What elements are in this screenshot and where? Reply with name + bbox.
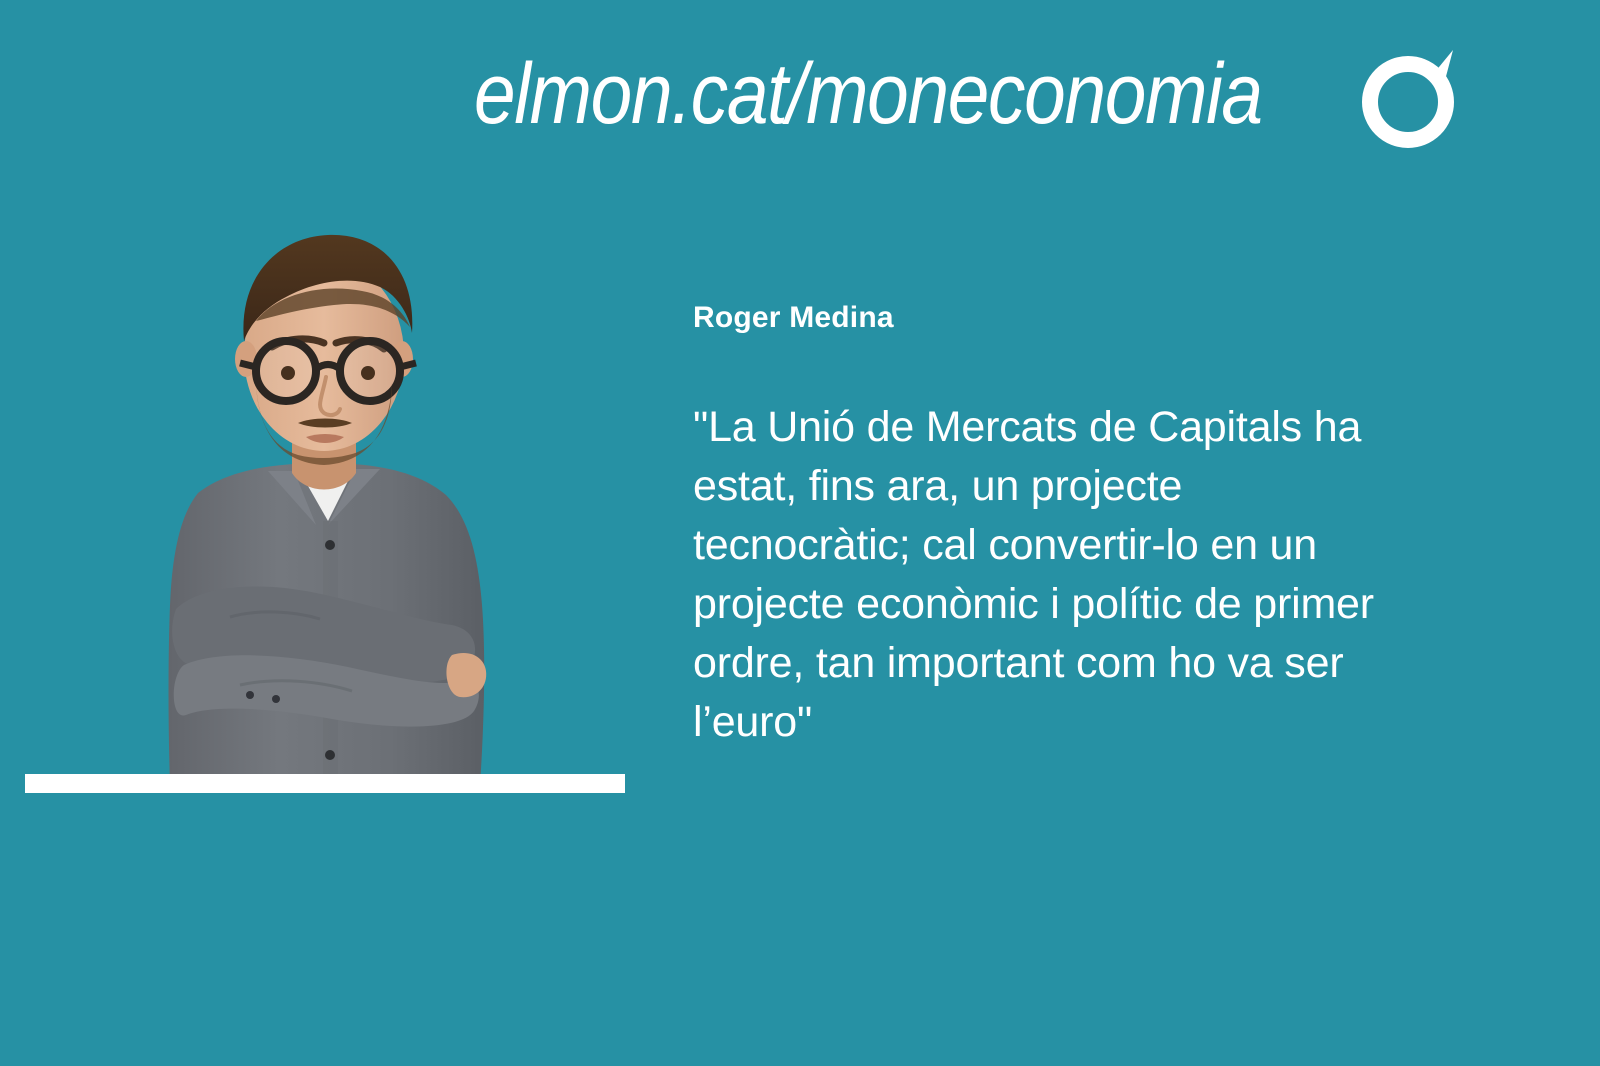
elmon-circle-logo-icon <box>1358 44 1462 148</box>
header: elmon.cat/moneconomia <box>0 0 1600 180</box>
quote-text: "La Unió de Mercats de Capitals ha estat… <box>693 336 1483 752</box>
quote-block: Roger Medina "La Unió de Mercats de Capi… <box>693 300 1483 752</box>
portrait-photo <box>80 225 510 785</box>
speaker-name: Roger Medina <box>693 300 1483 336</box>
person-illustration <box>80 225 510 785</box>
white-divider-bar <box>25 774 625 793</box>
quote-card: elmon.cat/moneconomia <box>0 0 1600 1066</box>
site-url-label: elmon.cat/moneconomia <box>474 46 1262 142</box>
